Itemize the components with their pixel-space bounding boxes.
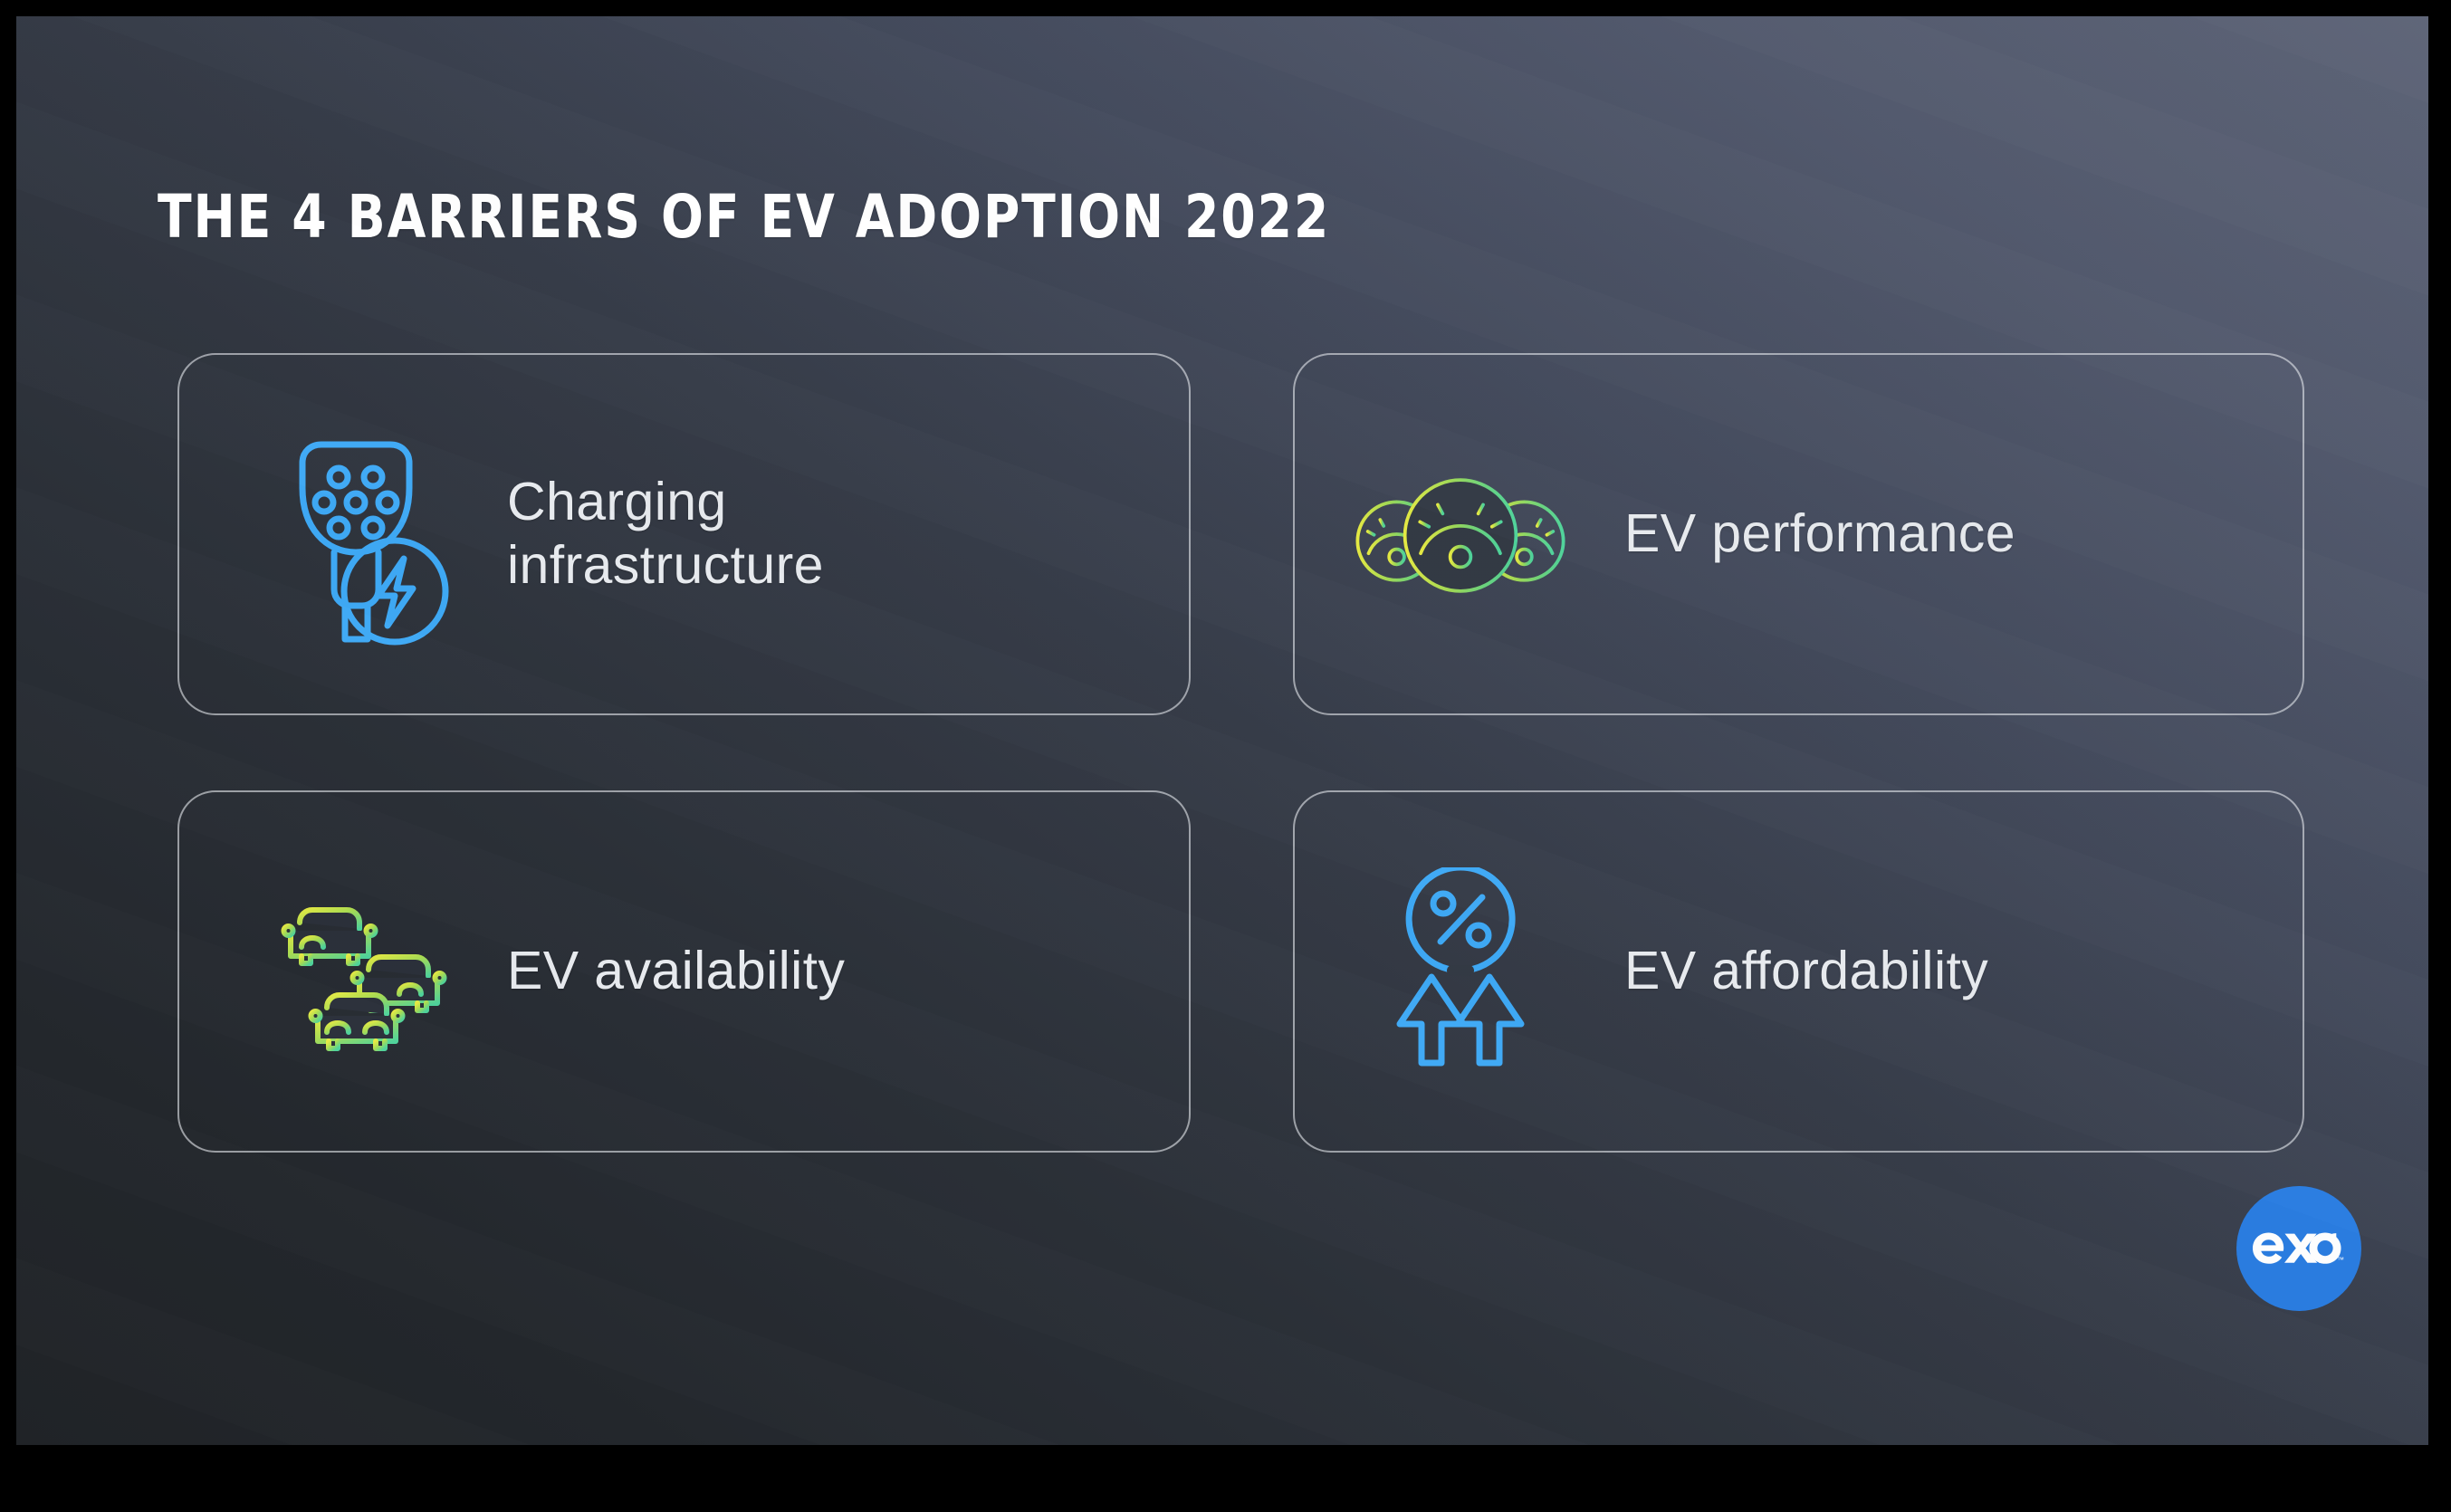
barrier-card-ev-affordability[interactable]: EV affordability (1293, 790, 2304, 1153)
percent-up-arrows-icon (1347, 867, 1574, 1076)
barrier-card-label: Charging infrastructure (507, 471, 824, 597)
exro-wordmark-icon: ™ (2250, 1228, 2348, 1269)
barrier-card-label: EV affordability (1624, 940, 1988, 1003)
page-title: THE 4 BARRIERS OF EV ADOPTION 2022 (158, 182, 1330, 252)
barrier-card-label-line1: EV affordability (1624, 940, 1988, 1003)
ev-charging-connector-icon (250, 421, 476, 647)
barrier-card-label-line1: Charging (507, 471, 824, 534)
barrier-card-charging-infrastructure[interactable]: Charging infrastructure (177, 353, 1191, 715)
three-gauges-icon (1347, 444, 1574, 625)
barrier-card-label: EV availability (507, 940, 845, 1003)
slide-canvas: THE 4 BARRIERS OF EV ADOPTION 2022 (16, 16, 2428, 1445)
barrier-card-label-line1: EV availability (507, 940, 845, 1003)
barrier-card-label-line2: infrastructure (507, 534, 824, 598)
trademark-glyph: ™ (2337, 1256, 2344, 1264)
three-cars-icon (250, 885, 476, 1057)
letterbox-frame: THE 4 BARRIERS OF EV ADOPTION 2022 (0, 0, 2451, 1512)
barrier-card-label: EV performance (1624, 502, 2015, 566)
barrier-card-ev-performance[interactable]: EV performance (1293, 353, 2304, 715)
exro-logo[interactable]: ™ (2236, 1186, 2361, 1311)
barrier-card-label-line1: EV performance (1624, 502, 2015, 566)
barrier-card-ev-availability[interactable]: EV availability (177, 790, 1191, 1153)
